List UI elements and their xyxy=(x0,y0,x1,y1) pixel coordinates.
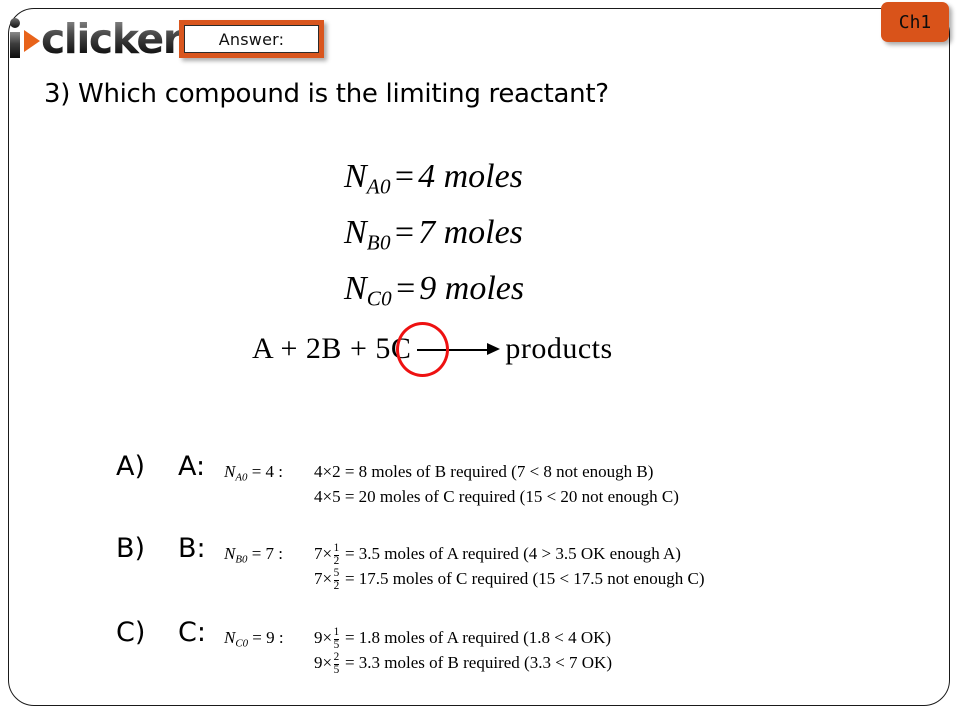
given-b-value: 7 xyxy=(418,214,435,251)
logo-letter-i xyxy=(8,16,23,58)
given-c-value: 9 xyxy=(419,270,436,307)
calculation-line: 9×15 = 1.8 moles of A required (1.8 < 4 … xyxy=(314,625,612,650)
logo-wordmark: clicker xyxy=(41,18,181,60)
option-a-calculations: 4×2 = 8 moles of B required (7 < 8 not e… xyxy=(314,459,679,509)
calculation-line: 7×52 = 17.5 moles of C required (15 < 17… xyxy=(314,566,705,591)
given-b-subscript: B0 xyxy=(367,231,391,255)
option-a-choice: A: xyxy=(178,452,205,482)
given-line-a: NA0=4 moles xyxy=(344,158,523,200)
calculation-line: 7×12 = 3.5 moles of A required (4 > 3.5 … xyxy=(314,541,705,566)
iclicker-logo: clicker xyxy=(8,14,181,60)
option-b-given: NB0 = 7 : xyxy=(224,543,283,570)
channel-badge: Ch1 xyxy=(881,2,949,42)
option-b-choice: B: xyxy=(178,534,206,564)
fraction: 12 xyxy=(334,543,340,567)
option-a-given: NA0 = 4 : xyxy=(224,461,283,488)
given-c-unit: moles xyxy=(445,270,524,307)
calculation-line: 4×2 = 8 moles of B required (7 < 8 not e… xyxy=(314,459,679,484)
answer-box: Answer: xyxy=(179,20,324,58)
given-b-symbol: N xyxy=(344,214,367,251)
fraction: 15 xyxy=(334,627,340,651)
given-line-c: NC0=9 moles xyxy=(344,270,524,312)
given-a-unit: moles xyxy=(444,158,523,195)
given-b-relation: = xyxy=(391,214,418,251)
red-circle-annotation xyxy=(396,322,449,377)
logo-i-dot-icon xyxy=(10,18,20,28)
option-c-letter: C) xyxy=(116,618,145,648)
channel-badge-label: Ch1 xyxy=(899,12,932,33)
answer-box-inner: Answer: xyxy=(184,25,319,53)
given-a-relation: = xyxy=(391,158,418,195)
reaction-reactants: A + 2B + 5C xyxy=(252,332,411,366)
option-b-calculations: 7×12 = 3.5 moles of A required (4 > 3.5 … xyxy=(314,541,705,591)
option-c-choice: C: xyxy=(178,618,206,648)
option-b-letter: B) xyxy=(116,534,145,564)
given-c-subscript: C0 xyxy=(367,287,392,311)
option-c-calculations: 9×15 = 1.8 moles of A required (1.8 < 4 … xyxy=(314,625,612,675)
reaction-products: products xyxy=(505,332,612,366)
given-a-subscript: A0 xyxy=(367,175,391,199)
given-b-unit: moles xyxy=(444,214,523,251)
fraction: 52 xyxy=(334,568,340,592)
play-triangle-icon xyxy=(24,30,40,52)
answer-label: Answer: xyxy=(219,30,284,49)
given-c-relation: = xyxy=(392,270,419,307)
question-text: 3) Which compound is the limiting reacta… xyxy=(44,79,609,109)
given-a-symbol: N xyxy=(344,158,367,195)
calculation-line: 9×25 = 3.3 moles of B required (3.3 < 7 … xyxy=(314,650,612,675)
logo-i-stem-icon xyxy=(10,32,20,58)
option-c-given: NC0 = 9 : xyxy=(224,627,284,654)
calculation-line: 4×5 = 20 moles of C required (15 < 20 no… xyxy=(314,484,679,509)
fraction: 25 xyxy=(334,652,340,676)
given-line-b: NB0=7 moles xyxy=(344,214,523,256)
option-a-letter: A) xyxy=(116,452,145,482)
given-a-value: 4 xyxy=(418,158,435,195)
given-c-symbol: N xyxy=(344,270,367,307)
